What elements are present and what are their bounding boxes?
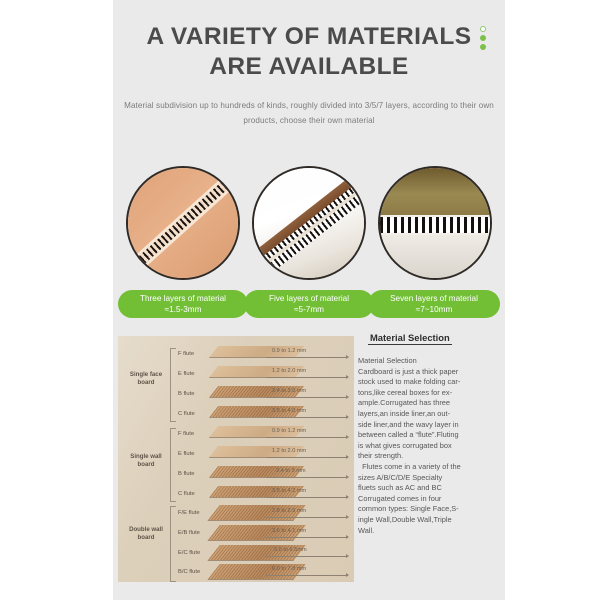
flute-label-1-4: C flute bbox=[178, 410, 210, 418]
flute-label-3-3: E/C flute bbox=[178, 549, 210, 557]
bracket-single-wall-board bbox=[170, 428, 176, 502]
measurement-1: 0.9 to 1.2 mm bbox=[272, 348, 306, 354]
page-title-row: A VARIETY OF MATERIALS bbox=[146, 22, 471, 52]
sample-label-five-layer-line1: Five layers of material bbox=[269, 293, 349, 305]
infographic-page: A VARIETY OF MATERIALS ARE AVAILABLE Mat… bbox=[0, 0, 600, 600]
measurement-12: 6.0 to 7.8 mm bbox=[272, 566, 306, 572]
measurement-11: 5.0 to 6.5mm bbox=[274, 547, 307, 553]
flute-label-2-4: C flute bbox=[178, 490, 210, 498]
flute-label-3-2: E/B flute bbox=[178, 529, 210, 537]
sample-image-five-layer bbox=[252, 166, 366, 280]
flute-label-2-3: B flute bbox=[178, 470, 210, 478]
sample-labels-row: Three layers of material ≈1.5-3mm Five l… bbox=[113, 290, 505, 320]
page-title-line-2: ARE AVAILABLE bbox=[113, 52, 505, 82]
sample-label-seven-layer-line2: ≈7~10mm bbox=[416, 304, 453, 316]
title-dots-decoration bbox=[479, 23, 488, 53]
dot-solid-icon-1 bbox=[480, 35, 486, 41]
measurement-2: 1.2 to 2.0 mm bbox=[272, 368, 306, 374]
bracket-single-face-board bbox=[170, 348, 176, 422]
flute-label-1-1: F flute bbox=[178, 350, 210, 358]
flute-label-2-1: F flute bbox=[178, 430, 210, 438]
flute-thickness-diagram: Single face board Single wall board Doub… bbox=[118, 336, 354, 582]
measurement-3: 2.4 to 3.0 mm bbox=[272, 388, 306, 394]
flute-label-2-2: E flute bbox=[178, 450, 210, 458]
group-label-single-wall-board: Single wall board bbox=[124, 453, 168, 468]
page-subtitle: Material subdivision up to hundreds of k… bbox=[113, 98, 505, 128]
sample-label-three-layer-line1: Three layers of material bbox=[140, 293, 226, 305]
sample-images-row bbox=[113, 158, 505, 286]
sample-label-seven-layer-line1: Seven layers of material bbox=[390, 293, 478, 305]
measurement-4: 3.5 to 4.0 mm bbox=[272, 408, 306, 414]
flute-label-1-3: B flute bbox=[178, 390, 210, 398]
sample-label-three-layer-line2: ≈1.5-3mm bbox=[165, 304, 202, 316]
sample-label-five-layer: Five layers of material ≈5-7mm bbox=[244, 290, 374, 318]
measurement-8: 3.5 to 4.2 mm bbox=[272, 488, 306, 494]
group-label-single-face-board: Single face board bbox=[124, 371, 168, 386]
measurement-5: 0.9 to 1.2 mm bbox=[272, 428, 306, 434]
measurement-10: 3.6 to 4.1 mm bbox=[272, 528, 306, 534]
group-label-double-wall-board: Double wall board bbox=[124, 526, 168, 541]
material-selection-title: Material Selection bbox=[368, 332, 452, 345]
lower-section: Single face board Single wall board Doub… bbox=[113, 328, 505, 588]
dot-solid-icon-2 bbox=[480, 44, 486, 50]
measurement-7: 2.4 to 3 mm bbox=[276, 468, 306, 474]
header: A VARIETY OF MATERIALS ARE AVAILABLE Mat… bbox=[113, 22, 505, 128]
sample-label-three-layer: Three layers of material ≈1.5-3mm bbox=[118, 290, 248, 318]
measurement-6: 1.2 to 2.0 mm bbox=[272, 448, 306, 454]
flute-label-3-1: F/E flute bbox=[178, 509, 210, 517]
sample-image-three-layer bbox=[126, 166, 240, 280]
flute-label-3-4: B/C flute bbox=[178, 568, 210, 576]
sample-label-seven-layer: Seven layers of material ≈7~10mm bbox=[368, 290, 500, 318]
sample-image-seven-layer bbox=[378, 166, 492, 280]
material-selection-body: Material Selection Cardboard is just a t… bbox=[358, 356, 500, 536]
bracket-double-wall-board bbox=[170, 506, 176, 582]
material-selection-panel: Material Selection Material Selection Ca… bbox=[358, 328, 500, 582]
page-title-line-1: A VARIETY OF MATERIALS bbox=[146, 22, 471, 52]
measurement-9: 2.8 to 2.9 mm bbox=[272, 508, 306, 514]
flute-label-1-2: E flute bbox=[178, 370, 210, 378]
sample-label-five-layer-line2: ≈5-7mm bbox=[294, 304, 324, 316]
dot-hollow-icon bbox=[480, 26, 486, 32]
